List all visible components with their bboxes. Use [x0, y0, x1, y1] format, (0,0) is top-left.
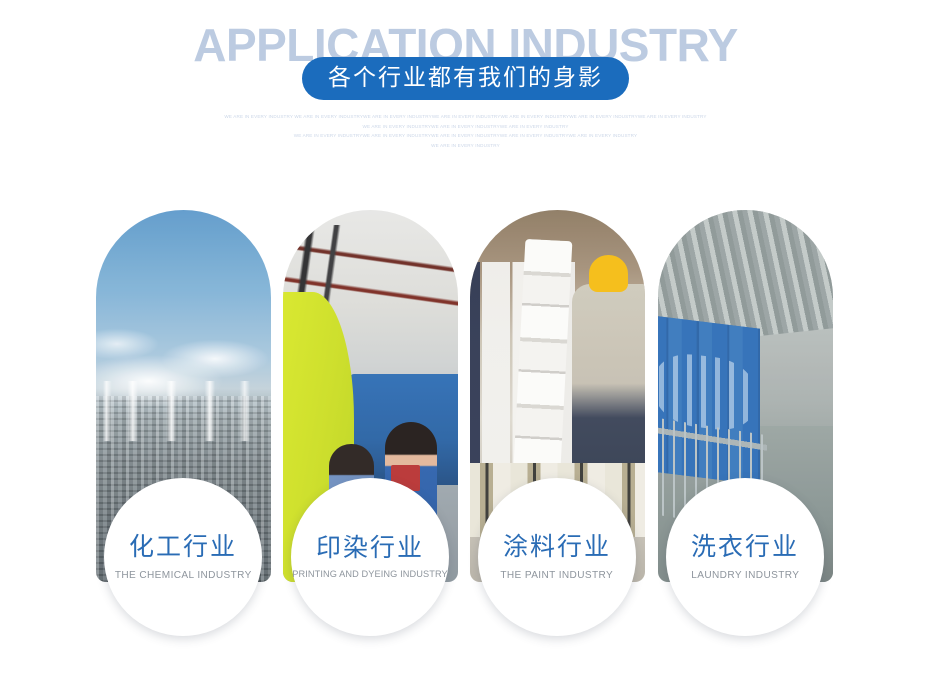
micro-text-line: WE ARE IN EVERY INDUSTRYWE ARE IN EVERY … [0, 131, 931, 141]
decorative-micro-text: WE ARE IN EVERY INDUSTRY WE ARE IN EVERY… [0, 112, 931, 150]
industry-label-cn: 涂料行业 [503, 533, 611, 562]
page-header: APPLICATION INDUSTRY 各个行业都有我们的身影 WE ARE … [0, 0, 931, 170]
subtitle-badge-wrap: 各个行业都有我们的身影 [0, 57, 931, 100]
industry-label-en: PRINTING AND DYEING INDUSTRY [292, 569, 448, 580]
industry-label-cn: 洗衣行业 [691, 533, 799, 562]
micro-text-line: WE ARE IN EVERY INDUSTRY [0, 141, 931, 151]
industry-label-en: LAUNDRY INDUSTRY [691, 569, 799, 581]
micro-text-line: WE ARE IN EVERY INDUSTRY WE ARE IN EVERY… [0, 112, 931, 122]
industry-label-cn: 化工行业 [129, 533, 237, 562]
industry-label-chemical[interactable]: 化工行业 THE CHEMICAL INDUSTRY [104, 478, 262, 636]
industry-label-en: THE PAINT INDUSTRY [501, 569, 614, 581]
micro-text-line: WE ARE IN EVERY INDUSTRYWE ARE IN EVERY … [0, 122, 931, 132]
industry-label-laundry[interactable]: 洗衣行业 LAUNDRY INDUSTRY [666, 478, 824, 636]
industry-label-en: THE CHEMICAL INDUSTRY [115, 569, 252, 581]
industry-card-grid: 化工行业 THE CHEMICAL INDUSTRY 印染行业 PRINTING… [0, 210, 931, 630]
industry-label-cn: 印染行业 [316, 534, 424, 563]
subtitle-badge: 各个行业都有我们的身影 [302, 57, 629, 100]
industry-label-paint[interactable]: 涂料行业 THE PAINT INDUSTRY [478, 478, 636, 636]
industry-label-dyeing[interactable]: 印染行业 PRINTING AND DYEING INDUSTRY [291, 478, 449, 636]
application-industry-page: APPLICATION INDUSTRY 各个行业都有我们的身影 WE ARE … [0, 0, 931, 676]
